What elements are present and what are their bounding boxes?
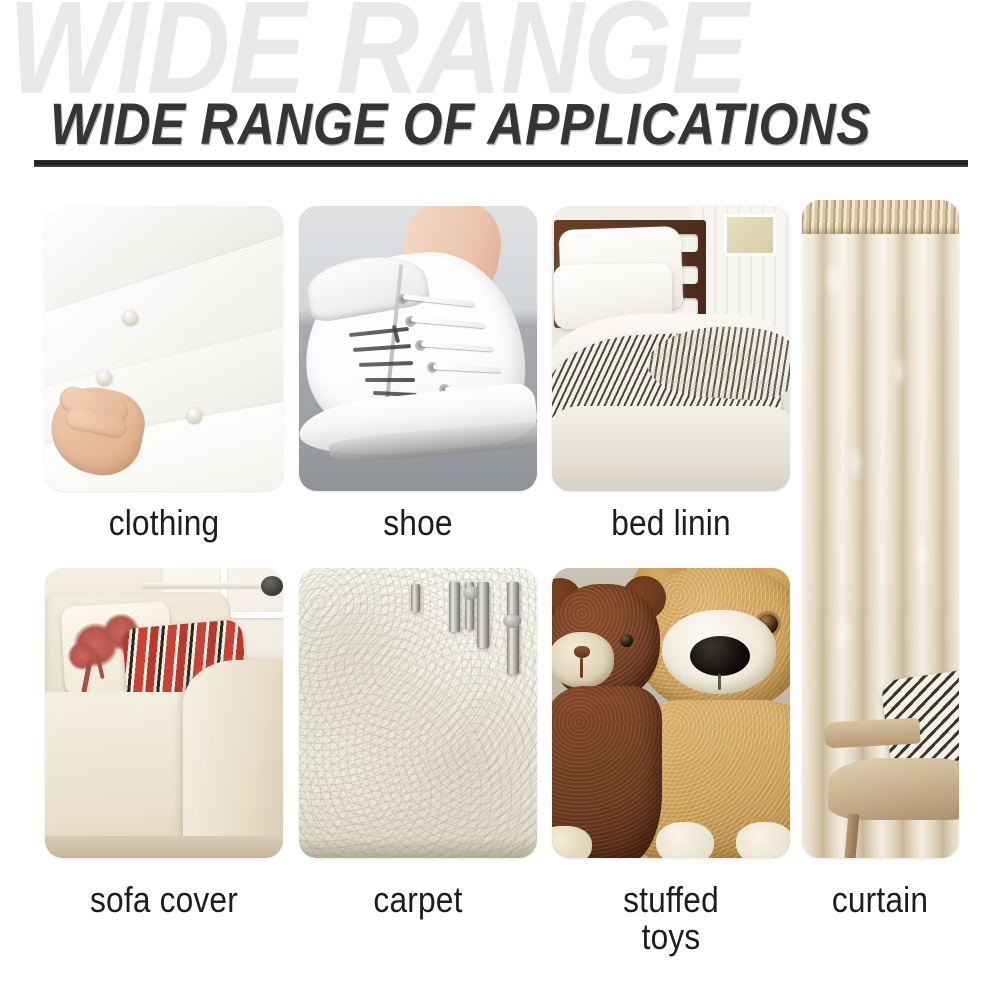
armchair-leg	[844, 814, 860, 858]
cream-curtain-image	[802, 200, 959, 858]
tile-label-shoe: shoe	[313, 505, 522, 542]
sneaker-stitch	[365, 378, 415, 382]
furniture-leg	[449, 582, 460, 632]
shirt-button	[123, 310, 138, 325]
curtain-pleat-header	[802, 200, 959, 234]
application-tile-shoe[interactable]	[299, 206, 537, 491]
bear-mouth	[718, 674, 721, 690]
page-title: WIDE RANGE OF APPLICATIONS	[50, 96, 966, 154]
armchair-seat	[828, 758, 959, 820]
floor	[45, 836, 283, 858]
dark-brown-teddy-bear	[552, 574, 670, 858]
tile-label-curtain: curtain	[810, 882, 951, 919]
bear-muzzle	[552, 632, 614, 688]
tile-label-sofa-cover: sofa cover	[50, 882, 277, 919]
tile-label-bed-linen: bed linin	[566, 505, 775, 542]
bear-paw	[736, 822, 790, 858]
shirt-button	[97, 370, 112, 385]
furniture-leg	[411, 584, 420, 612]
armchair	[824, 684, 959, 858]
application-tile-sofa-cover[interactable]	[45, 568, 283, 858]
armchair-arm	[823, 718, 920, 749]
wall-art	[724, 214, 776, 256]
bear-mouth	[580, 658, 583, 678]
white-sneaker-image	[299, 206, 537, 491]
bear-eye	[620, 634, 633, 647]
bear-nose	[574, 646, 590, 658]
white-shirt-image	[45, 206, 283, 491]
shirt-button	[187, 408, 202, 423]
sofa-cover-drape	[183, 660, 283, 858]
teddy-bears-image	[552, 568, 790, 858]
tile-label-clothing: clothing	[59, 505, 268, 542]
furniture-leg-collar	[463, 586, 479, 600]
title-divider	[34, 160, 968, 167]
furniture-leg	[507, 582, 519, 674]
curtain-rod-finial	[261, 576, 283, 596]
tile-label-stuffed-toys: stuffed toys	[566, 882, 775, 955]
bed-skirt	[552, 406, 790, 491]
application-gallery-page: WIDE RANGE WIDE RANGE OF APPLICATIONS cl…	[0, 0, 1000, 1000]
white-shag-carpet-image	[299, 568, 537, 858]
application-tile-curtain[interactable]	[802, 200, 959, 858]
application-tile-carpet[interactable]	[299, 568, 537, 858]
application-tile-bed-linen[interactable]	[552, 206, 790, 491]
sofa-cover-image	[45, 568, 283, 858]
bear-nose	[690, 636, 750, 676]
tile-label-carpet: carpet	[313, 882, 522, 919]
furniture-leg-collar	[503, 614, 521, 628]
carpet-edge-shadow	[299, 838, 537, 858]
application-tile-clothing[interactable]	[45, 206, 283, 491]
application-tile-stuffed-toys[interactable]	[552, 568, 790, 858]
bed-linen-image	[552, 206, 790, 491]
